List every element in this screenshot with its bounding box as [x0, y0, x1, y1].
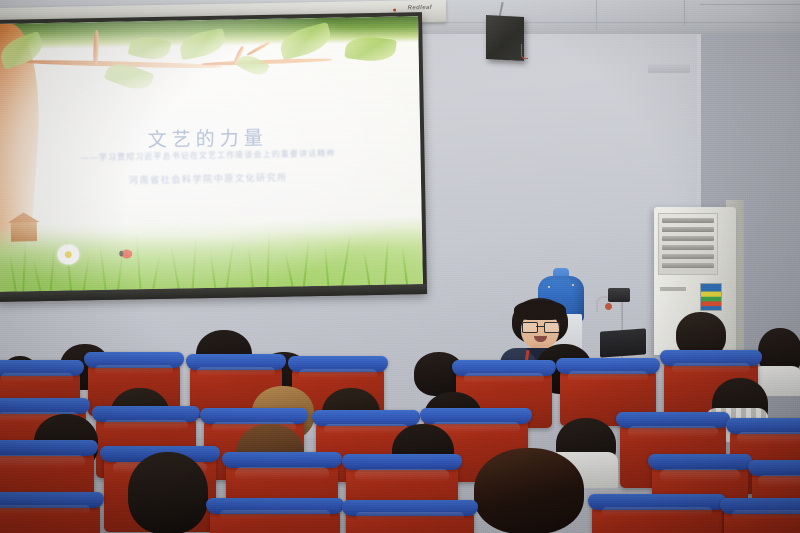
presenter-fringe	[514, 300, 566, 320]
presentation-slide: 文艺的力量 ——学习贯彻习近平总书记在文艺工作座谈会上的重要讲话精神 河南省社会…	[0, 16, 423, 292]
loudspeaker-icon	[486, 15, 524, 61]
ceiling-grid-line	[596, 0, 597, 30]
projection-screen: 文艺的力量 ——学习贯彻习近平总书记在文艺工作座谈会上的重要讲话精神 河南省社会…	[0, 12, 427, 302]
ceiling-grid-line	[700, 4, 800, 5]
speaker-wire	[521, 44, 528, 59]
adjust-knob[interactable]	[605, 303, 612, 310]
slide-subtitle-line2: 河南省社会科学院中原文化研究所	[0, 168, 421, 189]
camera-icon	[608, 288, 630, 302]
air-conditioner-brand	[660, 287, 686, 291]
monitor-screen	[600, 328, 646, 357]
lecture-hall-photo: Redleaf	[0, 0, 800, 533]
ceiling-grid-line	[684, 0, 685, 26]
hut-graphic	[11, 221, 37, 241]
wall-plaque	[648, 64, 690, 73]
seat[interactable]	[0, 498, 100, 533]
screen-surface: 文艺的力量 ——学习贯彻习近平总书记在文艺工作座谈会上的重要讲话精神 河南省社会…	[0, 16, 423, 292]
audience-head	[474, 448, 584, 533]
glasses-icon	[522, 322, 558, 331]
energy-rating-label	[700, 283, 722, 311]
seat[interactable]	[346, 506, 474, 533]
air-conditioner-grille	[658, 213, 718, 275]
screen-brand-label: Redleaf	[408, 5, 433, 11]
seat[interactable]	[592, 500, 722, 533]
seat[interactable]	[210, 504, 340, 533]
audience-head	[128, 452, 208, 533]
status-led-icon	[393, 9, 396, 12]
seat[interactable]	[724, 504, 800, 533]
